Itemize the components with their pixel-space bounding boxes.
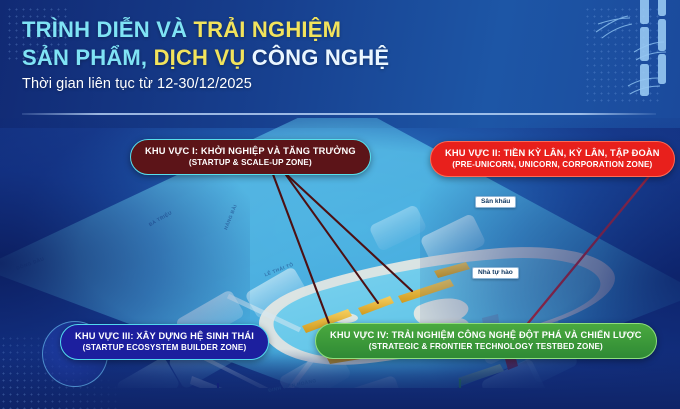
zone-callout-4[interactable]: KHU VỰC IV: TRẢI NGHIỆM CÔNG NGHỆ ĐỘT PH… (315, 323, 657, 359)
page-title: TRÌNH DIỄN VÀ TRẢI NGHIỆM SẢN PHẨM, DỊCH… (22, 16, 389, 92)
zone-callout-1[interactable]: KHU VỰC I: KHỞI NGHIỆP VÀ TĂNG TRƯỞNG (S… (130, 139, 371, 175)
zone-2-subtitle: (PRE-UNICORN, UNICORN, CORPORATION ZONE) (445, 159, 660, 170)
map-pin-pride-house[interactable]: Nhà tự hào (472, 267, 519, 279)
map-pin-stage[interactable]: Sân khấu (475, 196, 516, 208)
bamboo-icon (588, 0, 680, 114)
subtitle: Thời gian liên tục từ 12-30/12/2025 (22, 76, 389, 92)
zone-3-title: KHU VỰC III: XÂY DỰNG HỆ SINH THÁI (75, 330, 254, 342)
title-line1-part1: TRÌNH DIỄN VÀ (22, 17, 193, 42)
zone-1-title: KHU VỰC I: KHỞI NGHIỆP VÀ TĂNG TRƯỞNG (145, 145, 356, 157)
header-divider (22, 113, 656, 115)
title-line2-part1: SẢN PHẨM, (22, 45, 154, 70)
zone-callout-2[interactable]: KHU VỰC II: TIỀN KỲ LÂN, KỲ LÂN, TẬP ĐOÀ… (430, 141, 675, 177)
title-line-1: TRÌNH DIỄN VÀ TRẢI NGHIỆM (22, 16, 389, 44)
title-line-2: SẢN PHẨM, DỊCH VỤ CÔNG NGHỆ (22, 44, 389, 72)
zone-callout-3[interactable]: KHU VỰC III: XÂY DỰNG HỆ SINH THÁI (STAR… (60, 324, 269, 360)
title-line2-part2: DỊCH VỤ (154, 45, 252, 70)
poster-root: LÊ THÁI TỔ BÀ TRIỆU ĐỒNG DẦU HÀNG BÀI ĐI… (0, 0, 680, 409)
title-line1-part2: TRẢI NGHIỆM (193, 17, 341, 42)
zone-1-subtitle: (STARTUP & SCALE-UP ZONE) (145, 157, 356, 168)
title-line2-part3: CÔNG NGHỆ (252, 45, 389, 70)
zone-3-subtitle: (STARTUP ECOSYSTEM BUILDER ZONE) (75, 342, 254, 353)
zone-2-title: KHU VỰC II: TIỀN KỲ LÂN, KỲ LÂN, TẬP ĐOÀ… (445, 147, 660, 159)
zone-4-title: KHU VỰC IV: TRẢI NGHIỆM CÔNG NGHỆ ĐỘT PH… (330, 329, 642, 341)
zone-4-subtitle: (STRATEGIC & FRONTIER TECHNOLOGY TESTBED… (330, 341, 642, 352)
